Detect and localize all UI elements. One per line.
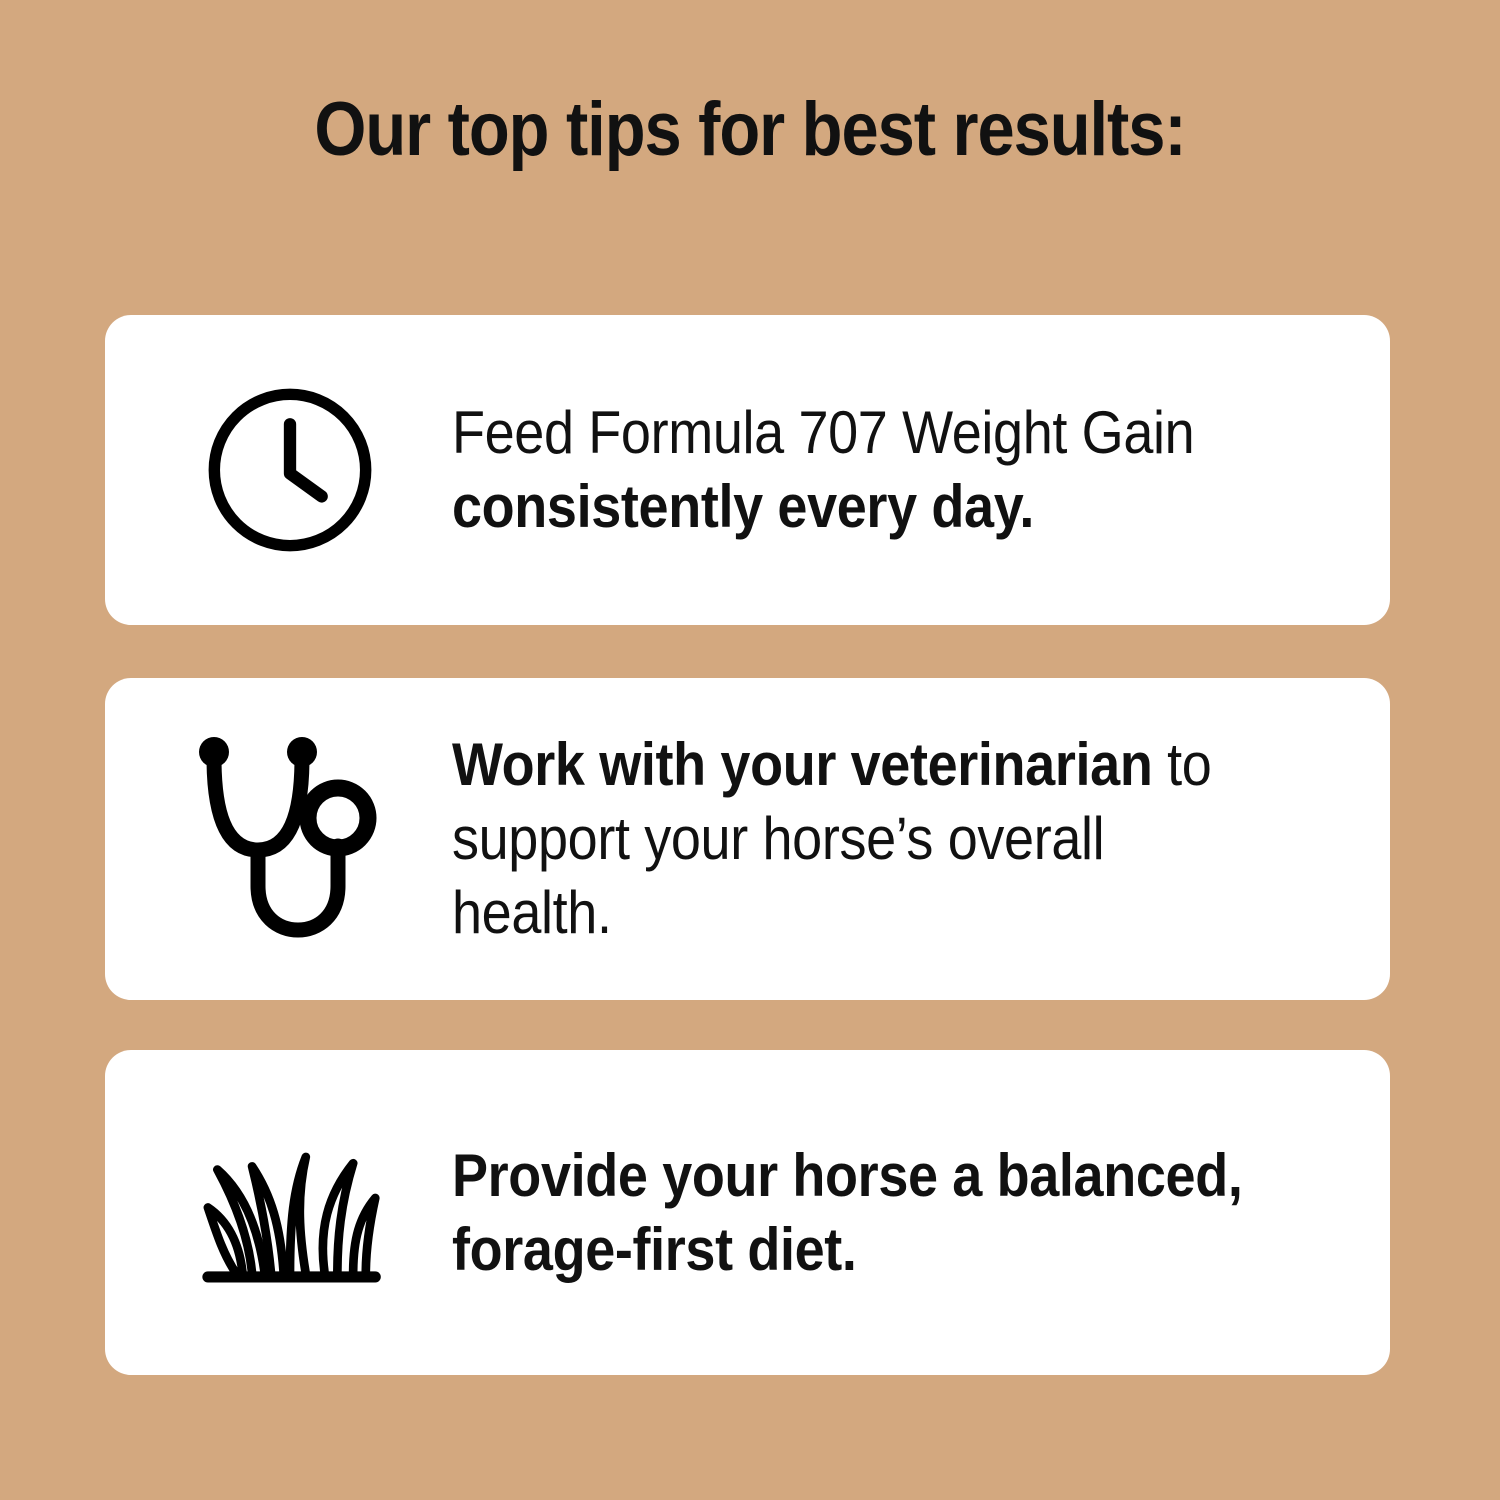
tip-lead-bold: Provide your horse a balanced, forage-fi… <box>452 1142 1242 1283</box>
tip-card-veterinarian: Work with your veterinarian to support y… <box>105 678 1390 1000</box>
grass-icon <box>185 1138 395 1288</box>
stethoscope-icon <box>185 730 395 948</box>
tip-text-forage-diet: Provide your horse a balanced, forage-fi… <box>452 1139 1296 1287</box>
clock-icon <box>185 382 395 558</box>
tip-text-veterinarian: Work with your veterinarian to support y… <box>452 728 1296 950</box>
tip-lead-bold: consistently every day. <box>452 473 1034 540</box>
tips-card-list: Feed Formula 707 Weight Gain consistentl… <box>105 315 1390 1375</box>
tip-lead-regular: Feed Formula 707 Weight Gain <box>452 399 1194 466</box>
page-title: Our top tips for best results: <box>90 86 1410 174</box>
tip-card-forage-diet: Provide your horse a balanced, forage-fi… <box>105 1050 1390 1375</box>
tip-card-consistency: Feed Formula 707 Weight Gain consistentl… <box>105 315 1390 625</box>
tip-text-consistency: Feed Formula 707 Weight Gain consistentl… <box>452 396 1296 544</box>
tips-infographic: Our top tips for best results: Feed Form… <box>0 0 1500 1500</box>
tip-lead-bold: Work with your veterinarian <box>452 731 1152 798</box>
